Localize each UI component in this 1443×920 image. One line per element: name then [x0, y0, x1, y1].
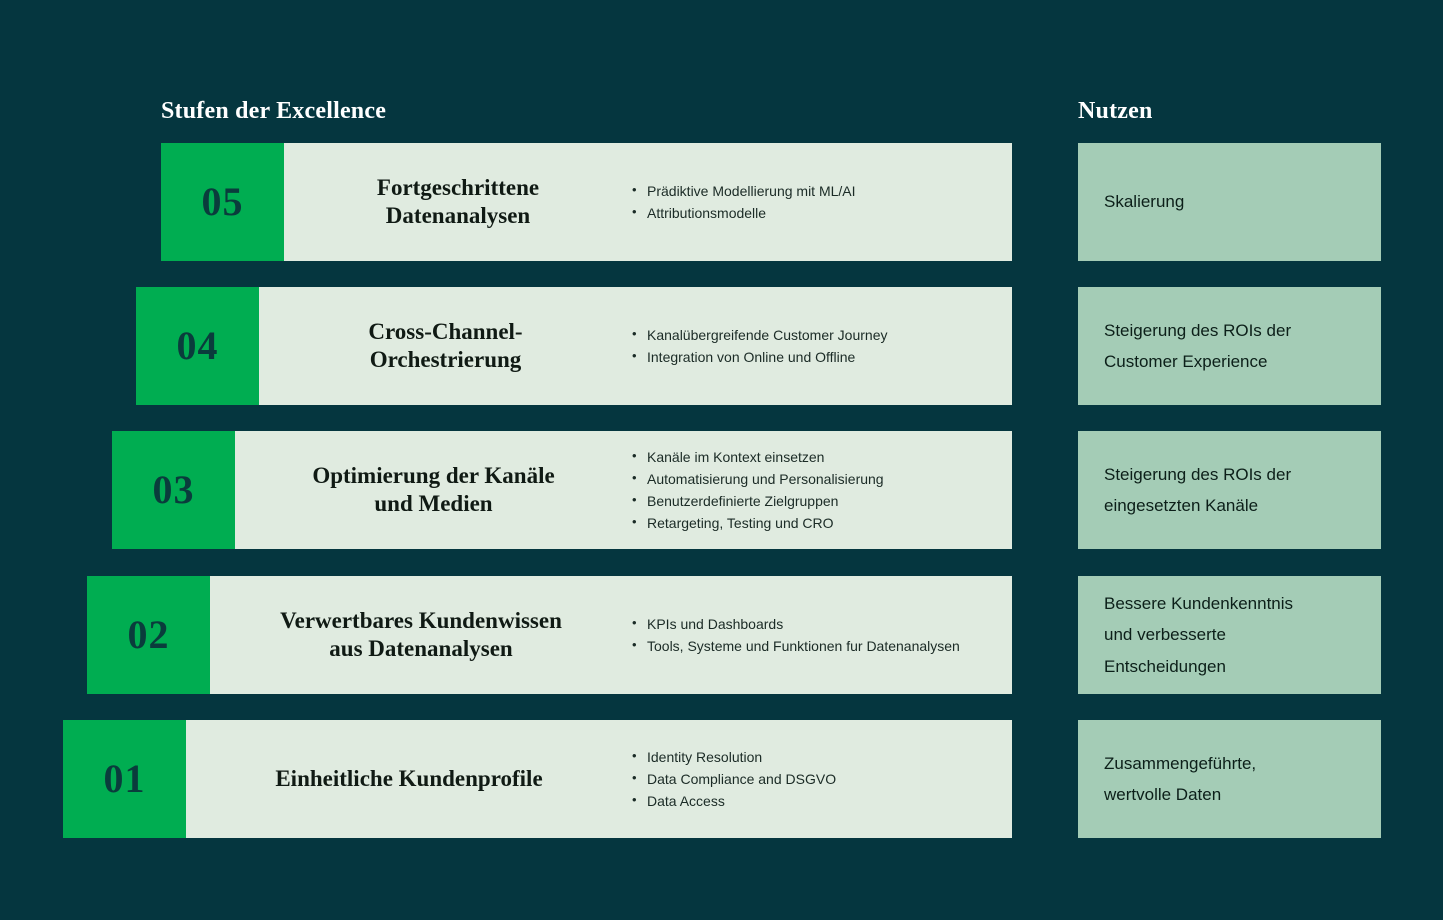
benefit-line: Customer Experience: [1104, 346, 1291, 377]
stage-title-04: Cross-Channel- Orchestrierung: [259, 318, 632, 374]
stage-title-01: Einheitliche Kundenprofile: [186, 765, 632, 793]
stage-title-line: aus Datenanalysen: [220, 635, 622, 663]
bullet-item: Prädiktive Modellierung mit ML/AI: [632, 180, 1012, 202]
stage-number-03: 03: [153, 470, 195, 510]
stage-title-03: Optimierung der Kanäle und Medien: [235, 462, 632, 518]
stage-title-line: Optimierung der Kanäle: [245, 462, 622, 490]
stage-body-05: Fortgeschrittene Datenanalysen Prädiktiv…: [284, 143, 1012, 261]
benefit-text-04: Steigerung des ROIs der Customer Experie…: [1104, 315, 1291, 378]
stage-body-03: Optimierung der Kanäle und Medien Kanäle…: [235, 431, 1012, 549]
infographic-canvas: Stufen der Excellence Nutzen 05 Fortgesc…: [0, 0, 1443, 920]
column-heading-benefit: Nutzen: [1078, 98, 1153, 125]
stage-row-01[interactable]: 01 Einheitliche Kundenprofile Identity R…: [63, 720, 1056, 838]
stage-number-block-05: 05: [161, 143, 284, 261]
stage-number-block-03: 03: [112, 431, 235, 549]
bullet-item: Kanäle im Kontext einsetzen: [632, 446, 1012, 468]
bullet-item: Attributionsmodelle: [632, 202, 1012, 224]
bullet-item: Integration von Online und Offline: [632, 346, 1012, 368]
stage-row-04[interactable]: 04 Cross-Channel- Orchestrierung Kanalüb…: [136, 287, 1056, 405]
stage-bullets-03: Kanäle im Kontext einsetzen Automatisier…: [632, 446, 1012, 534]
stage-title-line: Cross-Channel-: [269, 318, 622, 346]
benefit-text-05: Skalierung: [1104, 186, 1184, 217]
column-heading-stages: Stufen der Excellence: [161, 98, 386, 125]
stage-title-line: und Medien: [245, 490, 622, 518]
stage-number-block-02: 02: [87, 576, 210, 694]
stage-number-block-01: 01: [63, 720, 186, 838]
stage-title-02: Verwertbares Kundenwissen aus Datenanaly…: [210, 607, 632, 663]
stage-row-03[interactable]: 03 Optimierung der Kanäle und Medien Kan…: [112, 431, 1056, 549]
stage-body-02: Verwertbares Kundenwissen aus Datenanaly…: [210, 576, 1012, 694]
benefit-line: Zusammengeführte,: [1104, 748, 1256, 779]
bullet-item: Data Compliance and DSGVO: [632, 768, 1012, 790]
stage-row-05[interactable]: 05 Fortgeschrittene Datenanalysen Prädik…: [161, 143, 1056, 261]
stage-number-block-04: 04: [136, 287, 259, 405]
benefit-line: Steigerung des ROIs der: [1104, 459, 1291, 490]
stage-number-02: 02: [128, 615, 170, 655]
benefit-panel-05[interactable]: Skalierung: [1078, 143, 1381, 261]
benefit-line: eingesetzten Kanäle: [1104, 490, 1291, 521]
stage-bullets-02: KPIs und Dashboards Tools, Systeme und F…: [632, 613, 1012, 657]
stage-title-line: Verwertbares Kundenwissen: [220, 607, 622, 635]
stage-body-01: Einheitliche Kundenprofile Identity Reso…: [186, 720, 1012, 838]
benefit-line: Skalierung: [1104, 186, 1184, 217]
benefit-panel-02[interactable]: Bessere Kundenkenntnis und verbesserte E…: [1078, 576, 1381, 694]
bullet-item: Tools, Systeme und Funktionen fur Datena…: [632, 635, 1012, 657]
benefit-text-02: Bessere Kundenkenntnis und verbesserte E…: [1104, 588, 1293, 682]
benefit-line: wertvolle Daten: [1104, 779, 1256, 810]
benefit-line: Bessere Kundenkenntnis: [1104, 588, 1293, 619]
benefit-panel-01[interactable]: Zusammengeführte, wertvolle Daten: [1078, 720, 1381, 838]
benefit-panel-03[interactable]: Steigerung des ROIs der eingesetzten Kan…: [1078, 431, 1381, 549]
benefit-text-03: Steigerung des ROIs der eingesetzten Kan…: [1104, 459, 1291, 522]
stage-bullets-05: Prädiktive Modellierung mit ML/AI Attrib…: [632, 180, 1012, 224]
stage-title-line: Orchestrierung: [269, 346, 622, 374]
stage-title-line: Fortgeschrittene: [294, 174, 622, 202]
benefit-text-01: Zusammengeführte, wertvolle Daten: [1104, 748, 1256, 811]
bullet-item: Automatisierung und Personalisierung: [632, 468, 1012, 490]
bullet-item: KPIs und Dashboards: [632, 613, 1012, 635]
stage-body-04: Cross-Channel- Orchestrierung Kanalüberg…: [259, 287, 1012, 405]
bullet-item: Benutzerdefinierte Zielgruppen: [632, 490, 1012, 512]
stage-row-02[interactable]: 02 Verwertbares Kundenwissen aus Datenan…: [87, 576, 1056, 694]
stage-title-05: Fortgeschrittene Datenanalysen: [284, 174, 632, 230]
stage-number-04: 04: [177, 326, 219, 366]
stage-title-line: Datenanalysen: [294, 202, 622, 230]
stage-number-01: 01: [104, 759, 146, 799]
stage-number-05: 05: [202, 182, 244, 222]
benefit-line: Steigerung des ROIs der: [1104, 315, 1291, 346]
stage-bullets-04: Kanalübergreifende Customer Journey Inte…: [632, 324, 1012, 368]
bullet-item: Kanalübergreifende Customer Journey: [632, 324, 1012, 346]
benefit-line: Entscheidungen: [1104, 651, 1293, 682]
bullet-item: Retargeting, Testing und CRO: [632, 512, 1012, 534]
bullet-item: Identity Resolution: [632, 746, 1012, 768]
bullet-item: Data Access: [632, 790, 1012, 812]
stage-bullets-01: Identity Resolution Data Compliance and …: [632, 746, 1012, 812]
stage-title-line: Einheitliche Kundenprofile: [196, 765, 622, 793]
benefit-panel-04[interactable]: Steigerung des ROIs der Customer Experie…: [1078, 287, 1381, 405]
benefit-line: und verbesserte: [1104, 619, 1293, 650]
